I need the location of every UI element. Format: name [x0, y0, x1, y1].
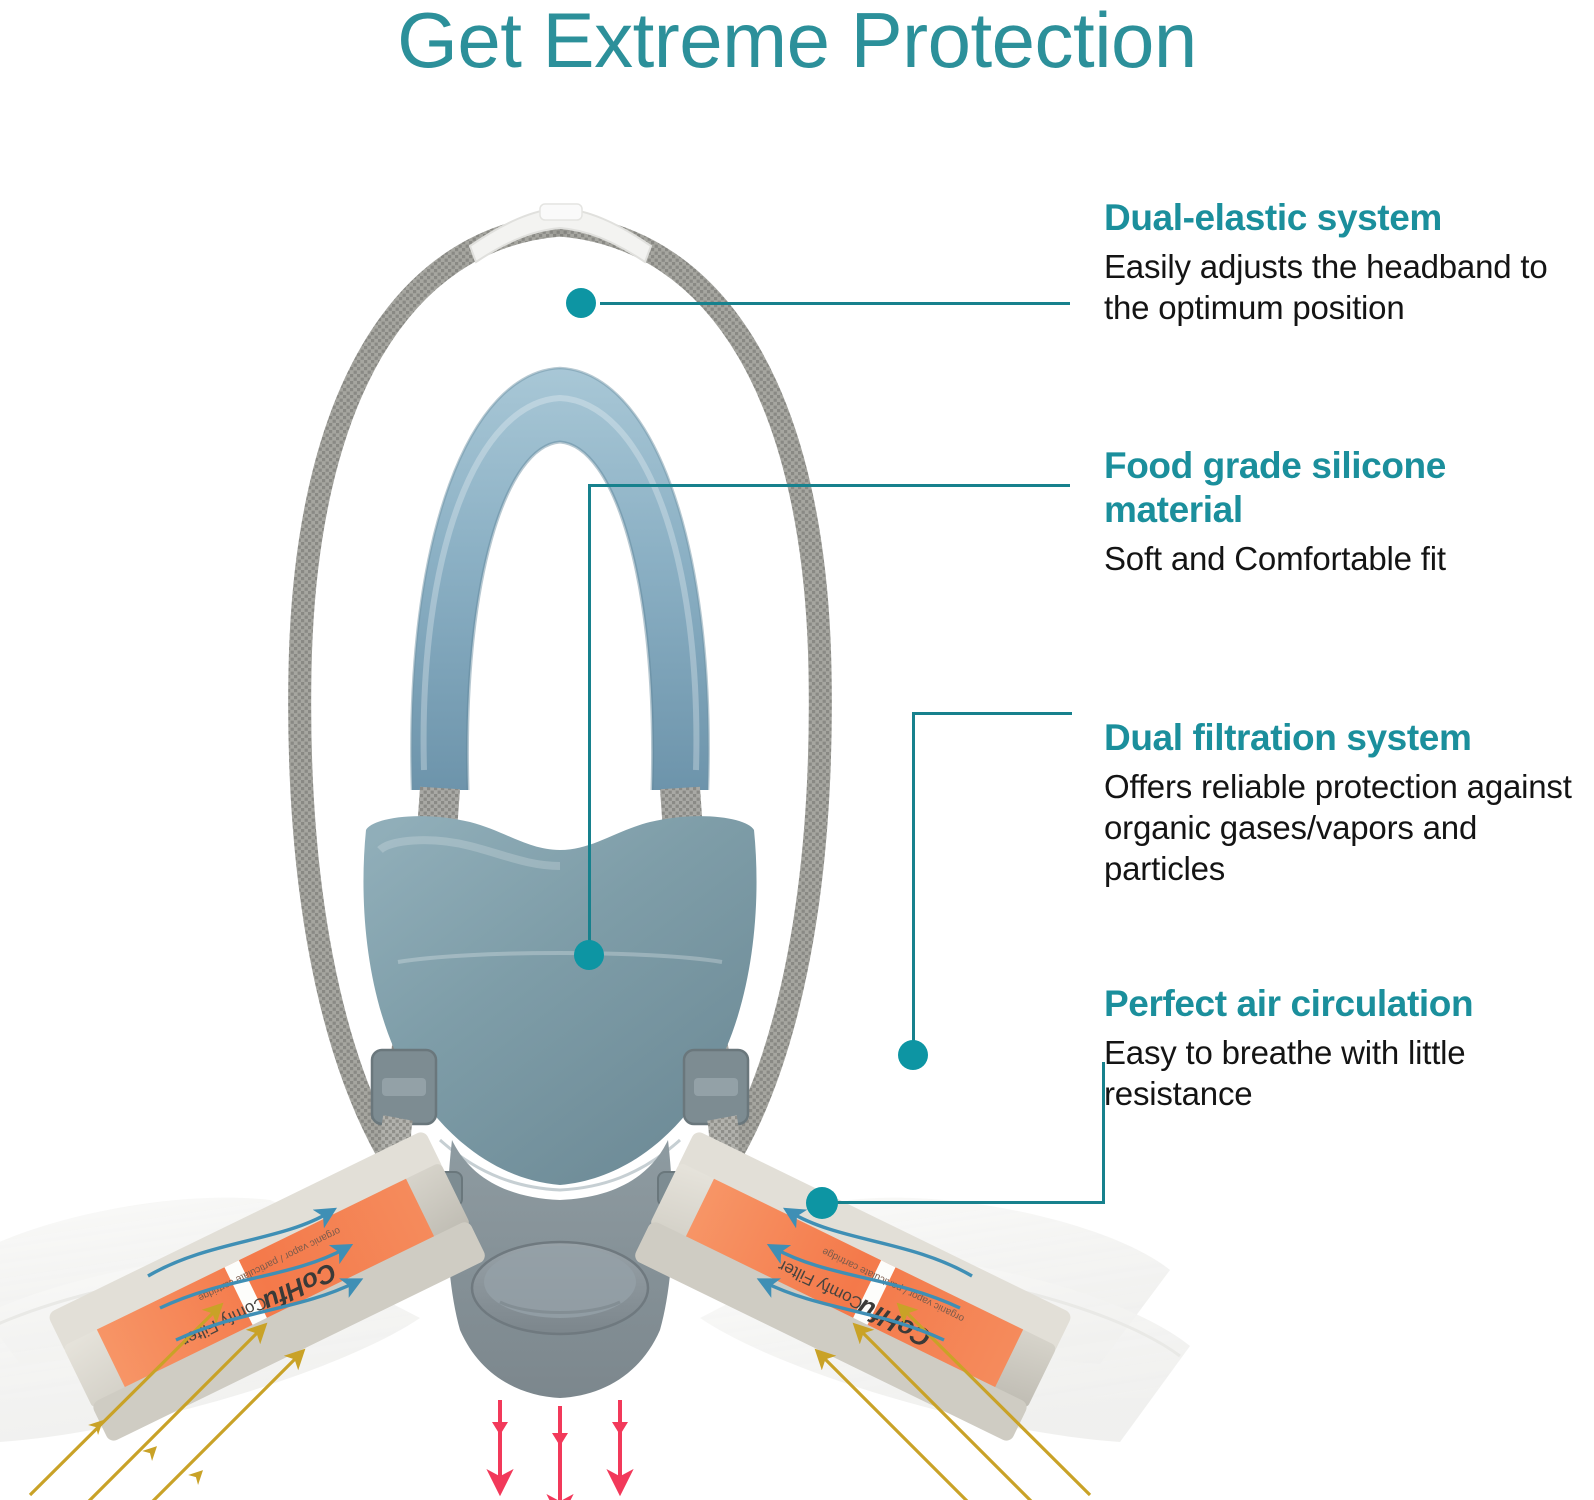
marker-dot-headband — [566, 288, 596, 318]
leader-line-silicone-horizontal — [588, 484, 1070, 487]
callout-heading-dual-elastic: Dual-elastic system — [1104, 196, 1574, 240]
leader-line-circulation-horizontal — [822, 1201, 1105, 1204]
filter-left: CoHfu Comfy Filter organic vapor / parti… — [0, 1130, 487, 1500]
callout-food-grade-silicone: Food grade silicone material Soft and Co… — [1104, 444, 1574, 579]
respirator-artwork: CoHfu Comfy Filter organic vapor / parti… — [0, 150, 1120, 1500]
infographic-canvas: Get Extreme Protection — [0, 0, 1594, 1500]
marker-dot-filter-label — [806, 1187, 838, 1219]
leader-line-filtration-horizontal — [912, 712, 1072, 715]
callout-heading-dual-filtration: Dual filtration system — [1104, 716, 1582, 760]
page-title: Get Extreme Protection — [0, 0, 1594, 86]
product-illustration: CoHfu Comfy Filter organic vapor / parti… — [0, 150, 1120, 1500]
callout-body-dual-elastic: Easily adjusts the headband to the optim… — [1104, 246, 1574, 328]
airflow-exhale — [500, 1400, 620, 1500]
callout-perfect-air-circulation: Perfect air circulation Easy to breathe … — [1104, 982, 1582, 1114]
callout-heading-perfect-air-circulation: Perfect air circulation — [1104, 982, 1582, 1026]
leader-line-silicone-vertical — [588, 484, 591, 954]
marker-dot-filter-top — [898, 1040, 928, 1070]
callout-dual-filtration: Dual filtration system Offers reliable p… — [1104, 716, 1582, 889]
callout-dual-elastic: Dual-elastic system Easily adjusts the h… — [1104, 196, 1574, 328]
callout-heading-food-grade-silicone: Food grade silicone material — [1104, 444, 1574, 532]
headband-pad — [411, 368, 708, 790]
callout-body-perfect-air-circulation: Easy to breathe with little resistance — [1104, 1032, 1582, 1114]
leader-line-filtration-vertical — [912, 712, 915, 1056]
leader-line-dual-elastic — [600, 302, 1070, 305]
callout-body-dual-filtration: Offers reliable protection against organ… — [1104, 766, 1582, 889]
marker-dot-facepiece — [574, 940, 604, 970]
callout-body-food-grade-silicone: Soft and Comfortable fit — [1104, 538, 1574, 579]
filter-right: CoHfu Comfy Filter organic vapor / parti… — [633, 1130, 1190, 1500]
